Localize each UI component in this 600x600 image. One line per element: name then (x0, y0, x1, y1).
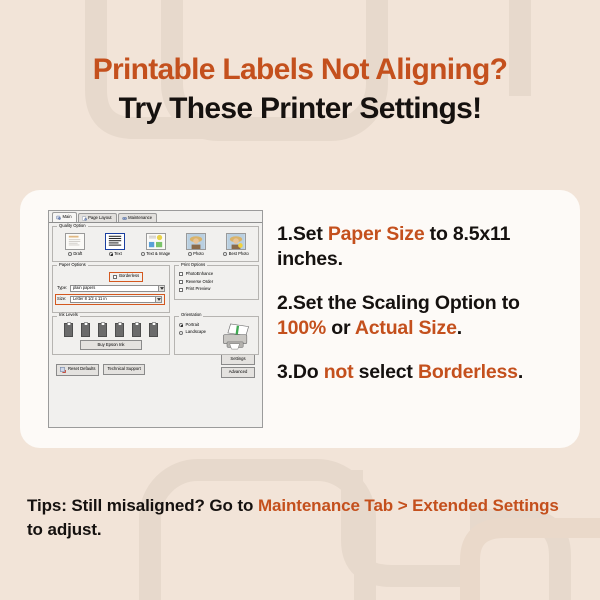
step-3: 3.Do not select Borderless. (277, 360, 573, 385)
step-2-part-0: 2.Set the Scaling Option to (277, 292, 520, 314)
draft-label: Draft (73, 252, 82, 257)
text-image-radio-label: Text & Image (139, 252, 173, 257)
dialog-footer: Reset Defaults Technical Support Show Se… (52, 358, 259, 377)
quality-option-row: Draft Text (57, 233, 254, 257)
reverse-order-checkbox[interactable] (179, 280, 183, 284)
chevron-down-icon[interactable] (155, 297, 161, 302)
paper-type-value: plain papers (73, 286, 95, 291)
photoenhance-row[interactable]: PhotoEnhance (179, 272, 254, 277)
draft-radio-label: Draft (58, 252, 92, 257)
dialog-tabbar: Main Page Layout Maintenance (49, 211, 262, 223)
tips-part-2: to adjust. (27, 520, 102, 539)
instruction-steps: 1.Set Paper Size to 8.5x11 inches. 2.Set… (277, 222, 573, 404)
ink-cartridge (64, 323, 73, 337)
paper-size-combo[interactable]: Letter 8 1/2 x 11 in (70, 296, 162, 303)
tips-part-0: Tips: Still misaligned? Go to (27, 496, 258, 515)
text-radio-label: Text (98, 252, 132, 257)
printer-illustration-icon (218, 323, 254, 350)
print-preview-checkbox[interactable] (179, 288, 183, 292)
quality-option-legend: Quality Option (57, 224, 88, 229)
best-photo-radio-label: Best Photo (219, 252, 253, 257)
technical-support-label: Technical Support (107, 367, 140, 372)
page-layout-tab-icon (82, 216, 87, 221)
landscape-label: Landscape (186, 330, 207, 335)
quality-option-best-photo[interactable]: Best Photo (219, 233, 253, 257)
ink-cartridge (149, 323, 158, 337)
orientation-group: Orientation Portrait Landscape (174, 316, 259, 355)
paper-options-legend: Paper Options (57, 263, 88, 268)
reset-defaults-button[interactable]: Reset Defaults (56, 364, 99, 376)
paper-type-combo[interactable]: plain papers (70, 285, 165, 292)
photo-thumbnail-icon (186, 233, 206, 250)
step-2: 2.Set the Scaling Option to 100% or Actu… (277, 291, 573, 341)
ink-cartridge (98, 323, 107, 337)
buy-epson-ink-label: Buy Epson Ink (97, 343, 124, 348)
print-preview-label: Print Preview (186, 287, 211, 292)
quality-option-draft[interactable]: Draft (58, 233, 92, 257)
buy-epson-ink-button[interactable]: Buy Epson Ink (80, 340, 142, 351)
text-image-radio[interactable] (141, 252, 145, 256)
photo-radio[interactable] (188, 252, 192, 256)
paper-print-columns: Paper Options Borderless Type: plain pap… (52, 265, 259, 316)
advanced-button[interactable]: Advanced (221, 367, 255, 378)
text-radio[interactable] (109, 252, 113, 256)
quality-option-text[interactable]: Text (98, 233, 132, 257)
paper-size-value: Letter 8 1/2 x 11 in (73, 297, 107, 302)
tips-text: Tips: Still misaligned? Go to Maintenanc… (27, 494, 572, 542)
ink-levels-legend: Ink Levels (57, 313, 80, 318)
paper-size-row[interactable]: Size: Letter 8 1/2 x 11 in (55, 294, 165, 305)
tab-maintenance[interactable]: Maintenance (118, 213, 157, 222)
reset-icon (60, 367, 66, 373)
landscape-row[interactable]: Landscape (179, 330, 215, 335)
step-1-part-1: Paper Size (328, 223, 425, 245)
photoenhance-checkbox[interactable] (179, 272, 183, 276)
portrait-row[interactable]: Portrait (179, 323, 215, 328)
print-options-legend: Print Options (179, 263, 207, 268)
step-3-part-2: select (353, 361, 418, 383)
best-photo-label: Best Photo (229, 252, 249, 257)
ink-cartridge-row (57, 323, 165, 337)
step-3-part-1: not (324, 361, 354, 383)
quality-option-group: Quality Option Draft (52, 226, 259, 262)
tab-maintenance-label: Maintenance (128, 216, 152, 221)
best-photo-thumbnail-icon (226, 233, 246, 250)
reverse-order-label: Reverse Order (186, 280, 213, 285)
photo-label: Photo (193, 252, 204, 257)
text-image-label: Text & Image (146, 252, 170, 257)
paper-size-label: Size: (57, 297, 68, 302)
step-1-part-0: 1.Set (277, 223, 328, 245)
step-3-part-0: 3.Do (277, 361, 324, 383)
reverse-order-row[interactable]: Reverse Order (179, 280, 254, 285)
text-label: Text (114, 252, 122, 257)
paper-type-row[interactable]: Type: plain papers (57, 285, 165, 292)
quality-option-photo[interactable]: Photo (179, 233, 213, 257)
paper-options-group: Paper Options Borderless Type: plain pap… (52, 265, 170, 313)
borderless-label: Borderless (119, 274, 139, 279)
portrait-radio[interactable] (179, 323, 183, 327)
ink-cartridge (81, 323, 90, 337)
step-2-part-1: 100% (277, 317, 326, 339)
step-2-part-4: . (457, 317, 462, 339)
tips-part-1: Maintenance Tab > Extended Settings (258, 496, 559, 515)
headline-line-2: Try These Printer Settings! (0, 91, 600, 126)
tab-page-layout[interactable]: Page Layout (78, 213, 117, 222)
photo-radio-label: Photo (179, 252, 213, 257)
printer-properties-dialog[interactable]: Main Page Layout Maintenance Qualit (48, 210, 263, 428)
ink-orientation-columns: Ink Levels Buy Epson Ink (52, 316, 259, 359)
photoenhance-label: PhotoEnhance (186, 272, 213, 277)
borderless-highlight[interactable]: Borderless (109, 272, 143, 282)
step-1: 1.Set Paper Size to 8.5x11 inches. (277, 222, 573, 272)
reset-defaults-label: Reset Defaults (68, 367, 95, 372)
headline-line-1: Printable Labels Not Aligning? (0, 52, 600, 87)
orientation-legend: Orientation (179, 313, 203, 318)
paper-type-label: Type: (57, 286, 68, 291)
text-thumbnail-icon (105, 233, 125, 250)
technical-support-button[interactable]: Technical Support (103, 364, 144, 375)
print-preview-row[interactable]: Print Preview (179, 287, 254, 292)
dialog-body: Quality Option Draft (49, 223, 262, 381)
step-3-part-3: Borderless (418, 361, 518, 383)
draft-thumbnail-icon (65, 233, 85, 250)
borderless-checkbox[interactable] (113, 275, 117, 279)
maintenance-tab-icon (122, 216, 127, 221)
advanced-label: Advanced (229, 370, 248, 375)
orientation-options: Portrait Landscape (179, 323, 215, 350)
print-options-group: Print Options PhotoEnhance Reverse Order… (174, 265, 259, 300)
tab-main-label: Main (63, 215, 72, 220)
best-photo-radio[interactable] (223, 252, 227, 256)
draft-radio[interactable] (68, 252, 72, 256)
step-2-part-2: or (326, 317, 355, 339)
chevron-down-icon[interactable] (158, 286, 164, 291)
text-image-thumbnail-icon (146, 233, 166, 250)
portrait-label: Portrait (186, 323, 200, 328)
tab-main[interactable]: Main (52, 212, 77, 222)
quality-option-text-image[interactable]: Text & Image (139, 233, 173, 257)
ink-cartridge (132, 323, 141, 337)
ink-levels-group: Ink Levels Buy Epson Ink (52, 316, 170, 356)
orientation-content: Portrait Landscape (179, 323, 254, 350)
main-tab-icon (56, 215, 61, 220)
ink-cartridge (115, 323, 124, 337)
headline: Printable Labels Not Aligning? Try These… (0, 52, 600, 127)
step-3-part-4: . (518, 361, 523, 383)
landscape-radio[interactable] (179, 331, 183, 335)
tab-page-layout-label: Page Layout (88, 216, 112, 221)
step-2-part-3: Actual Size (355, 317, 457, 339)
